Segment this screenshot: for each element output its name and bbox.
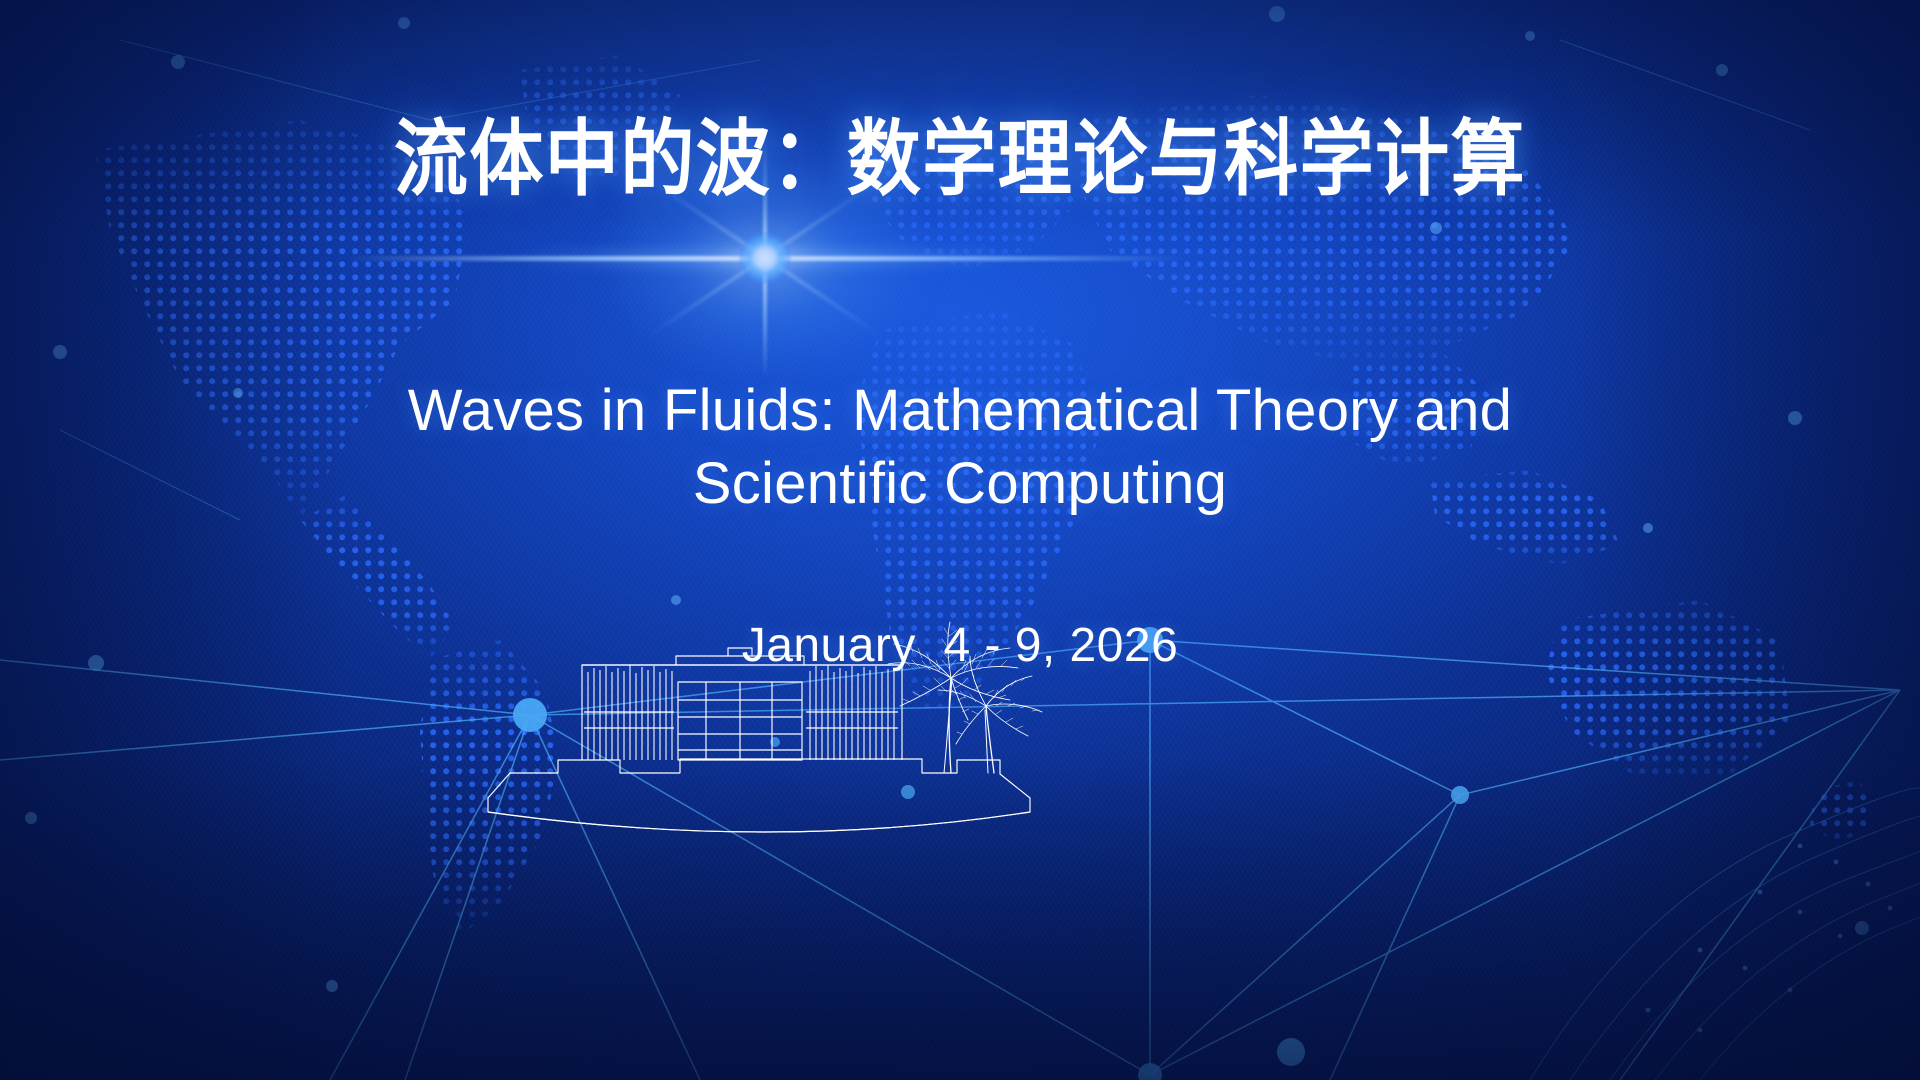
conference-banner: 流体中的波：数学理论与科学计算 Waves in Fluids: Mathema… bbox=[0, 0, 1920, 1080]
page-title-english-line2: Scientific Computing bbox=[0, 447, 1920, 520]
event-date: January 4 - 9, 2026 bbox=[0, 618, 1920, 673]
page-title-english: Waves in Fluids: Mathematical Theory and… bbox=[0, 374, 1920, 520]
page-title-english-line1: Waves in Fluids: Mathematical Theory and bbox=[0, 374, 1920, 447]
page-title-chinese: 流体中的波：数学理论与科学计算 bbox=[0, 118, 1920, 201]
